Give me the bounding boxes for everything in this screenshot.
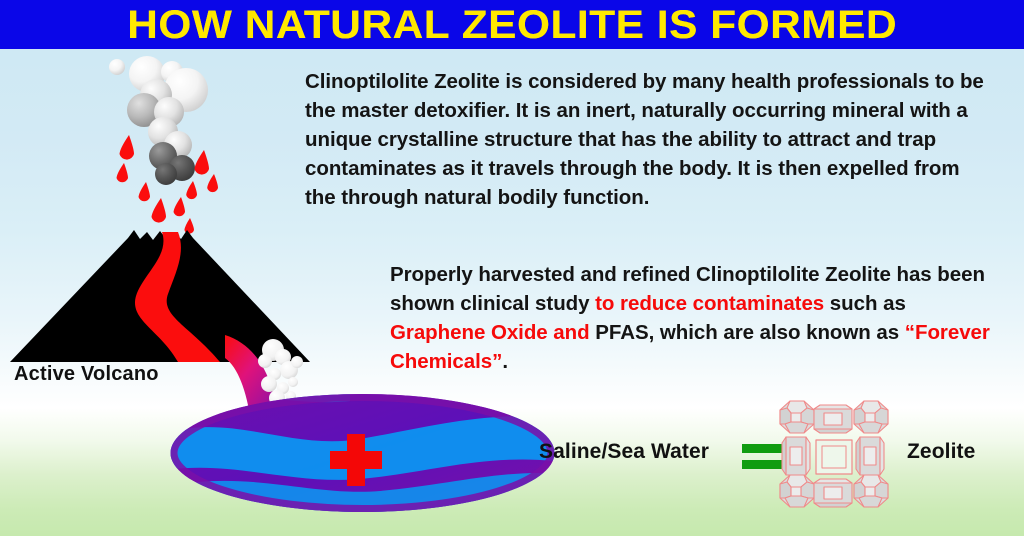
zeolite-label: Zeolite — [907, 440, 975, 464]
header-banner: HOW NATURAL ZEOLITE IS FORMED — [0, 0, 1024, 49]
paragraph-one: Clinoptilolite Zeolite is considered by … — [305, 67, 995, 212]
page-title: HOW NATURAL ZEOLITE IS FORMED — [127, 4, 897, 46]
p2-segment-3: such as — [824, 292, 906, 315]
saline-sea-water-label: Saline/Sea Water — [539, 440, 709, 464]
paragraph-two: Properly harvested and refined Clinoptil… — [390, 260, 990, 376]
p2-segment-7: . — [502, 350, 508, 373]
p2-segment-5: PFAS, which are also known as — [590, 321, 905, 344]
plus-sign-vertical — [347, 434, 365, 486]
infographic-canvas: HOW NATURAL ZEOLITE IS FORMED — [0, 0, 1024, 536]
p2-segment-2-highlight: to reduce contaminates — [595, 292, 824, 315]
p2-segment-4-highlight: Graphene Oxide and — [390, 321, 590, 344]
zeolite-structure-icon — [772, 396, 896, 516]
volcano-label: Active Volcano — [14, 363, 159, 386]
